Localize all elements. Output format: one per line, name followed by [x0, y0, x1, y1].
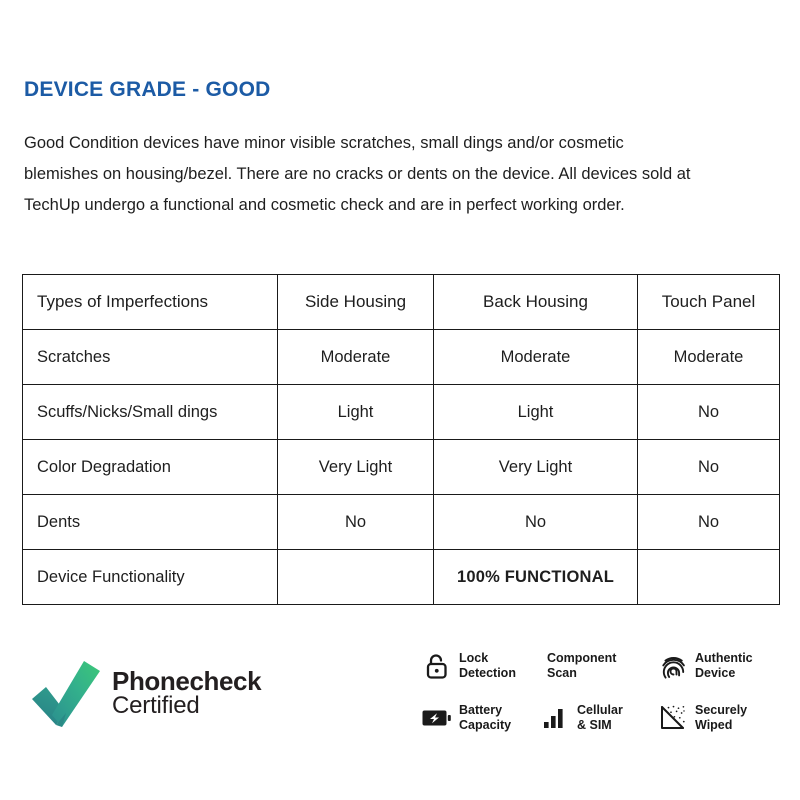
- row-value: No: [638, 440, 780, 495]
- row-value: Moderate: [278, 330, 434, 385]
- device-grade-page: DEVICE GRADE - GOOD Good Condition devic…: [0, 0, 800, 800]
- table-row: Dents No No No: [23, 495, 780, 550]
- table-row: Scratches Moderate Moderate Moderate: [23, 330, 780, 385]
- row-value: [278, 550, 434, 605]
- row-value: No: [638, 385, 780, 440]
- row-label: Scratches: [23, 330, 278, 385]
- column-header-types: Types of Imperfections: [23, 275, 278, 330]
- table-row: Device Functionality 100% FUNCTIONAL: [23, 550, 780, 605]
- row-label: Scuffs/Nicks/Small dings: [23, 385, 278, 440]
- row-value: Moderate: [434, 330, 638, 385]
- table-row: Scuffs/Nicks/Small dings Light Light No: [23, 385, 780, 440]
- badge-lock-detection: Lock Detection: [422, 651, 540, 681]
- row-value: Very Light: [278, 440, 434, 495]
- row-value: No: [638, 495, 780, 550]
- row-value: No: [278, 495, 434, 550]
- grade-description: Good Condition devices have minor visibl…: [24, 128, 696, 221]
- phonecheck-certified-logo: Phonecheck Certified: [30, 655, 261, 731]
- column-header-side-housing: Side Housing: [278, 275, 434, 330]
- badge-cellular-sim: Cellular & SIM: [540, 703, 658, 733]
- row-label: Device Functionality: [23, 550, 278, 605]
- securely-wiped-icon: [658, 703, 688, 733]
- row-label: Dents: [23, 495, 278, 550]
- column-header-back-housing: Back Housing: [434, 275, 638, 330]
- battery-icon: [422, 703, 452, 733]
- badge-label: Lock Detection: [459, 651, 516, 681]
- signal-bars-icon: [540, 703, 570, 733]
- table-row: Color Degradation Very Light Very Light …: [23, 440, 780, 495]
- row-value: Very Light: [434, 440, 638, 495]
- badge-battery-capacity: Battery Capacity: [422, 703, 540, 733]
- badge-label: Component Scan: [547, 651, 616, 681]
- imperfections-table: Types of Imperfections Side Housing Back…: [22, 274, 780, 605]
- badge-component-scan: Component Scan: [540, 651, 658, 681]
- badge-row-bottom: Battery Capacity Cellular & SIM: [422, 692, 782, 744]
- logo-name: Phonecheck: [112, 668, 261, 695]
- badge-label: Authentic Device: [695, 651, 753, 681]
- badge-authentic-device: Authentic Device: [658, 651, 782, 681]
- lock-open-icon: [422, 651, 452, 681]
- row-value: [638, 550, 780, 605]
- badge-securely-wiped: Securely Wiped: [658, 703, 782, 733]
- logo-wordmark: Phonecheck Certified: [112, 668, 261, 719]
- row-value: Moderate: [638, 330, 780, 385]
- badge-label: Battery Capacity: [459, 703, 511, 733]
- status-badge: 100% FUNCTIONAL: [434, 550, 638, 605]
- row-value: Light: [434, 385, 638, 440]
- row-label: Color Degradation: [23, 440, 278, 495]
- row-value: No: [434, 495, 638, 550]
- table-header-row: Types of Imperfections Side Housing Back…: [23, 275, 780, 330]
- badge-row-top: Lock Detection Component Scan: [422, 640, 782, 692]
- logo-subtitle: Certified: [112, 694, 261, 718]
- page-title: DEVICE GRADE - GOOD: [24, 78, 271, 102]
- certification-badges: Lock Detection Component Scan: [422, 640, 782, 744]
- badge-label: Cellular & SIM: [577, 703, 623, 733]
- checkmark-icon: [30, 655, 102, 731]
- badge-label: Securely Wiped: [695, 703, 747, 733]
- row-value: Light: [278, 385, 434, 440]
- fingerprint-icon: [658, 651, 688, 681]
- column-header-touch-panel: Touch Panel: [638, 275, 780, 330]
